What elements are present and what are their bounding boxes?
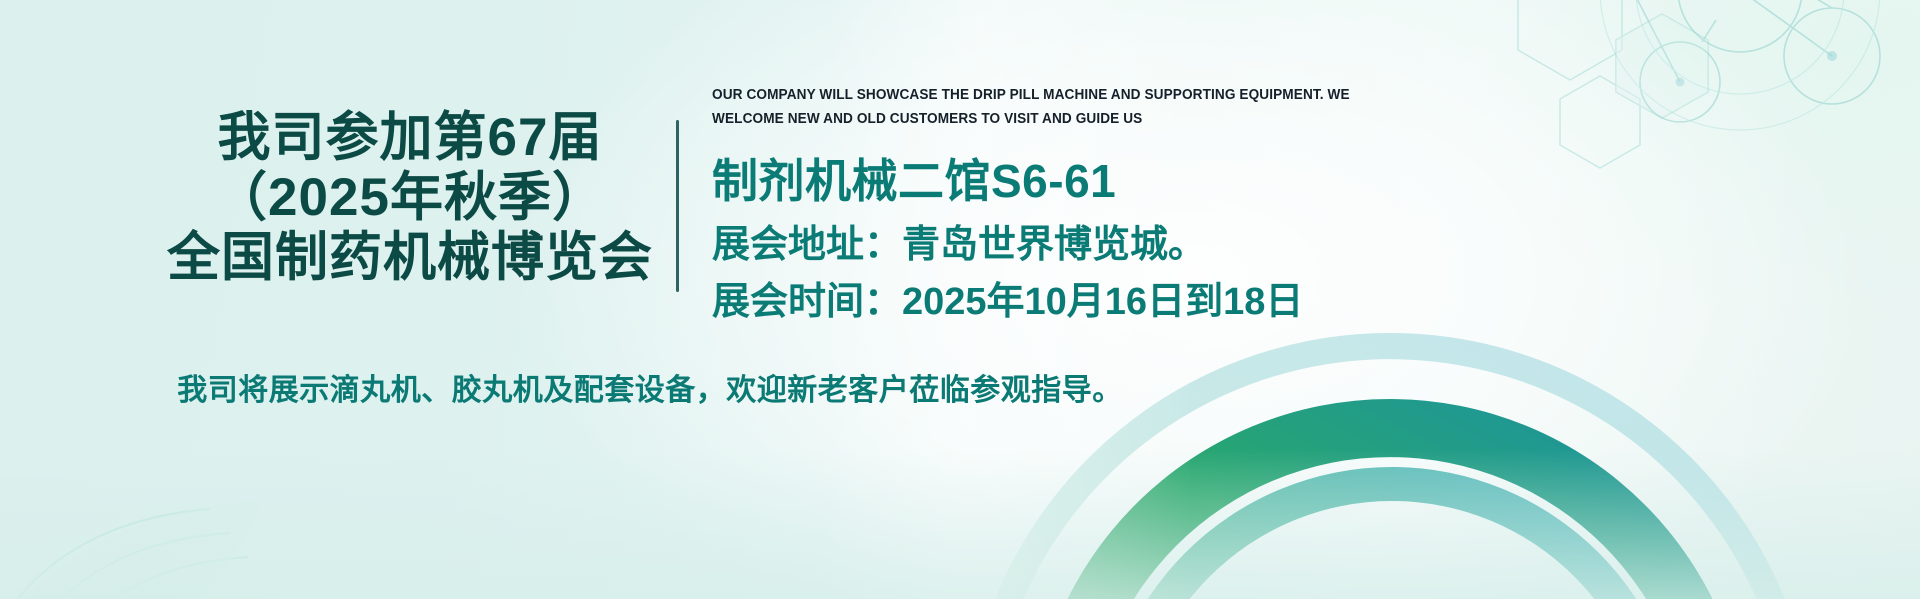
main-title-line-1: 我司参加第67届: [150, 108, 670, 168]
english-caption: OUR COMPANY WILL SHOWCASE THE DRIP PILL …: [712, 84, 1412, 132]
leaf-icon: [0, 389, 360, 599]
vertical-divider: [676, 120, 679, 292]
venue-address: 展会地址：青岛世界博览城。: [712, 218, 1812, 273]
exhibition-banner: 我司参加第67届 （2025年秋季） 全国制药机械博览会 OUR COMPANY…: [0, 0, 1920, 599]
main-title-line-2: （2025年秋季）: [150, 168, 670, 228]
bottom-glow: [0, 449, 1920, 599]
main-title-line-3: 全国制药机械博览会: [150, 228, 670, 288]
details-column: OUR COMPANY WILL SHOWCASE THE DRIP PILL …: [712, 84, 1812, 330]
main-title: 我司参加第67届 （2025年秋季） 全国制药机械博览会: [150, 108, 670, 288]
subtitle-text: 我司将展示滴丸机、胶丸机及配套设备，欢迎新老客户莅临参观指导。: [0, 365, 1300, 409]
hall-booth-number: 制剂机械二馆S6-61: [712, 154, 1812, 208]
event-date: 展会时间：2025年10月16日到18日: [712, 275, 1812, 330]
